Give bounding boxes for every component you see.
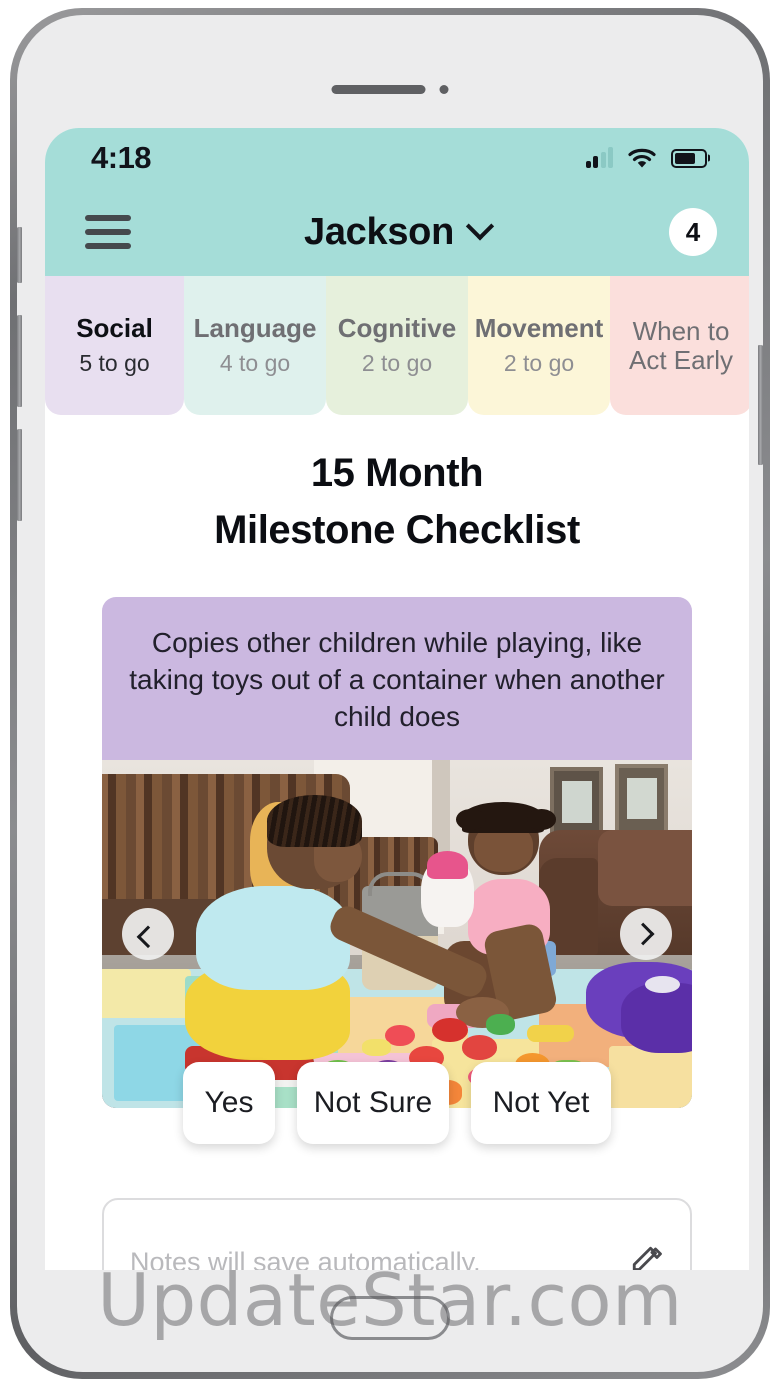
page-title: 15 Month Milestone Checklist	[45, 415, 749, 559]
status-bar-time: 4:18	[91, 140, 151, 176]
tab-cognitive-label: Cognitive	[338, 314, 456, 343]
tab-movement-sublabel: 2 to go	[504, 350, 574, 377]
child-name-label: Jackson	[304, 211, 454, 254]
notes-placeholder-text: Notes will save automatically.	[130, 1247, 481, 1270]
tab-language[interactable]: Language 4 to go	[184, 276, 326, 415]
chevron-right-icon[interactable]	[620, 908, 672, 960]
page-title-line1: 15 Month	[65, 445, 729, 502]
wifi-icon	[628, 148, 656, 169]
tab-language-label: Language	[194, 314, 317, 343]
answer-not-sure-button[interactable]: Not Sure	[297, 1062, 449, 1144]
category-tabs: Social 5 to go Language 4 to go Cognitiv…	[45, 276, 749, 415]
milestone-description: Copies other children while playing, lik…	[102, 597, 692, 761]
tab-social-label: Social	[76, 314, 153, 343]
tab-cognitive-sublabel: 2 to go	[362, 350, 432, 377]
power-button[interactable]	[758, 345, 763, 465]
volume-up-button[interactable]	[17, 315, 22, 407]
front-camera-icon	[440, 85, 449, 94]
tab-social-sublabel: 5 to go	[79, 350, 149, 377]
pencil-icon[interactable]	[630, 1244, 664, 1270]
tab-movement-label: Movement	[475, 314, 604, 343]
tab-when-to-act-early[interactable]: When to Act Early	[610, 276, 749, 415]
tab-social[interactable]: Social 5 to go	[45, 276, 184, 415]
phone-bezel: 4:18	[17, 15, 763, 1372]
answer-yes-button[interactable]: Yes	[183, 1062, 275, 1144]
volume-down-button[interactable]	[17, 429, 22, 521]
phone-screen: 4:18	[45, 128, 749, 1270]
milestone-photo	[102, 760, 692, 1108]
speaker-grille-icon	[332, 85, 426, 94]
notes-input[interactable]: Notes will save automatically.	[102, 1198, 692, 1270]
home-button-icon[interactable]	[330, 1296, 450, 1340]
chevron-down-icon	[466, 212, 494, 240]
hamburger-menu-icon[interactable]	[85, 215, 133, 249]
tab-language-sublabel: 4 to go	[220, 350, 290, 377]
notification-badge[interactable]: 4	[669, 208, 717, 256]
phone-device-frame: 4:18	[10, 8, 770, 1379]
silent-switch-button[interactable]	[17, 227, 22, 283]
page-title-line2: Milestone Checklist	[65, 502, 729, 559]
status-bar-icons	[586, 148, 708, 169]
child-selector-dropdown[interactable]: Jackson	[304, 211, 490, 254]
milestone-photo-carousel	[102, 760, 692, 1108]
status-bar: 4:18	[45, 128, 749, 188]
chevron-left-icon[interactable]	[122, 908, 174, 960]
earpiece-assembly	[332, 85, 449, 94]
milestone-card: Copies other children while playing, lik…	[102, 597, 692, 1109]
answer-not-yet-button[interactable]: Not Yet	[471, 1062, 611, 1144]
battery-icon	[671, 149, 707, 168]
tab-cognitive[interactable]: Cognitive 2 to go	[326, 276, 468, 415]
tab-movement[interactable]: Movement 2 to go	[468, 276, 610, 415]
answer-buttons: Yes Not Sure Not Yet	[45, 1062, 749, 1144]
signal-bars-icon	[586, 148, 614, 168]
tab-when-to-act-early-label: When to Act Early	[629, 317, 733, 374]
app-header: Jackson 4	[45, 188, 749, 276]
